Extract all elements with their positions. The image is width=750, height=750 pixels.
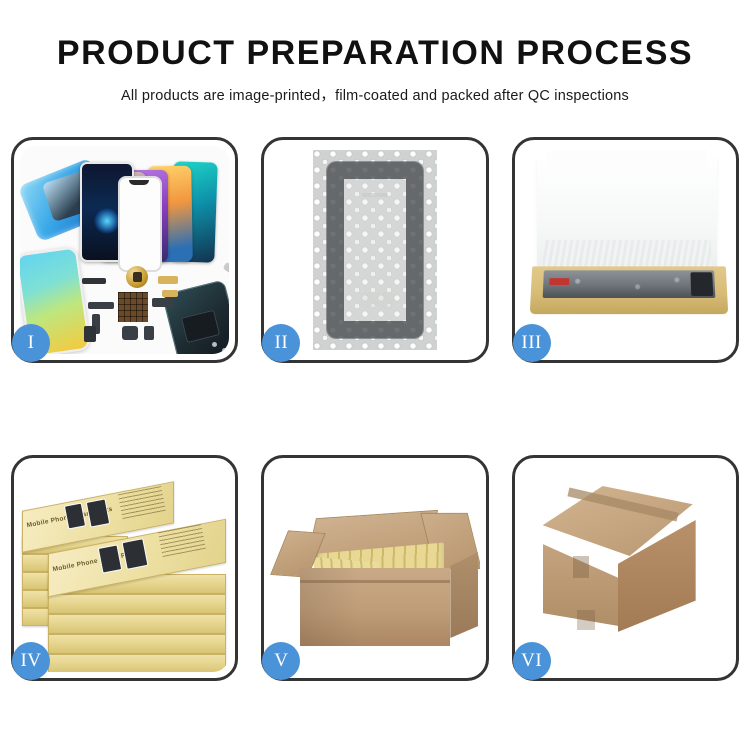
carton-side-panel — [450, 552, 478, 638]
step-image-5 — [270, 464, 479, 672]
sealed-carton-handle-tab-lower — [577, 610, 595, 630]
page-subtitle: All products are image-printed，film-coat… — [0, 72, 750, 105]
chip-array-part — [118, 292, 148, 322]
speaker-coil-part — [126, 266, 148, 288]
screen-glass-frame — [327, 162, 423, 338]
carton-seam-line — [300, 580, 450, 583]
step-image-2 — [270, 146, 479, 354]
camera-module-part — [152, 298, 174, 307]
page-title: PRODUCT PREPARATION PROCESS — [0, 0, 750, 72]
stacked-box-r2 — [48, 594, 226, 614]
step-badge-3: III — [513, 324, 551, 362]
step-badge-5: V — [262, 642, 300, 680]
battery-connector-part — [82, 278, 106, 284]
sealed-carton-handle-tab-upper — [573, 556, 589, 578]
step-panel-4: Mobile Phone Spare Parts Mobile Phone Sp… — [11, 455, 238, 681]
steps-row-1: I II — [11, 137, 739, 363]
step-badge-2: II — [262, 324, 300, 362]
product-preparation-infographic: PRODUCT PREPARATION PROCESS All products… — [0, 0, 750, 750]
boxed-screen-illustration — [521, 146, 730, 354]
step-panel-1: I — [11, 137, 238, 363]
vibration-motor-part — [122, 326, 138, 340]
foam-padding-graphic — [537, 156, 717, 274]
home-button — [360, 292, 394, 309]
step-panel-3: III — [512, 137, 739, 363]
wrapped-screen-in-box — [542, 270, 715, 298]
stacked-boxes-illustration: Mobile Phone Spare Parts Mobile Phone Sp… — [20, 464, 229, 672]
step-image-3 — [521, 146, 730, 354]
stacked-box-r4 — [48, 634, 226, 654]
flex-cable-part-a — [158, 276, 178, 284]
button-part — [144, 326, 154, 340]
sim-tray-part — [84, 326, 96, 342]
bubble-wrap-graphic — [313, 150, 437, 350]
box-label-sticker — [549, 278, 569, 285]
screw-part-b — [222, 348, 227, 353]
step-image-1 — [20, 146, 229, 354]
step-panel-6: VI — [512, 455, 739, 681]
steps-grid: I II — [11, 137, 739, 681]
box-stack: Mobile Phone Spare Parts Mobile Phone Sp… — [22, 478, 229, 672]
earpiece-slot — [362, 193, 388, 197]
header: PRODUCT PREPARATION PROCESS All products… — [0, 0, 750, 105]
screw-part-a — [212, 342, 217, 347]
sealed-carton-illustration — [521, 464, 730, 672]
flex-cable-part-b — [162, 290, 178, 297]
step-panel-2: II — [261, 137, 488, 363]
steps-row-2: Mobile Phone Spare Parts Mobile Phone Sp… — [11, 455, 739, 681]
step-badge-4: IV — [12, 642, 50, 680]
step-panel-5: V — [261, 455, 488, 681]
kraft-box-tray — [529, 266, 727, 314]
step-image-6 — [521, 464, 730, 672]
spare-parts-group — [82, 264, 229, 354]
phone-screen-white — [118, 176, 162, 272]
flex-cable-part-c — [88, 302, 114, 309]
step-badge-6: VI — [513, 642, 551, 680]
open-carton-illustration — [270, 464, 479, 672]
step-badge-1: I — [12, 324, 50, 362]
stacked-box-r3 — [48, 614, 226, 634]
product-collage-illustration — [20, 146, 229, 354]
stacked-box-r5 — [48, 654, 226, 672]
bubble-wrapped-screen-illustration — [270, 146, 479, 354]
step-image-4: Mobile Phone Spare Parts Mobile Phone Sp… — [20, 464, 229, 672]
phone-screen-fan — [82, 154, 229, 262]
